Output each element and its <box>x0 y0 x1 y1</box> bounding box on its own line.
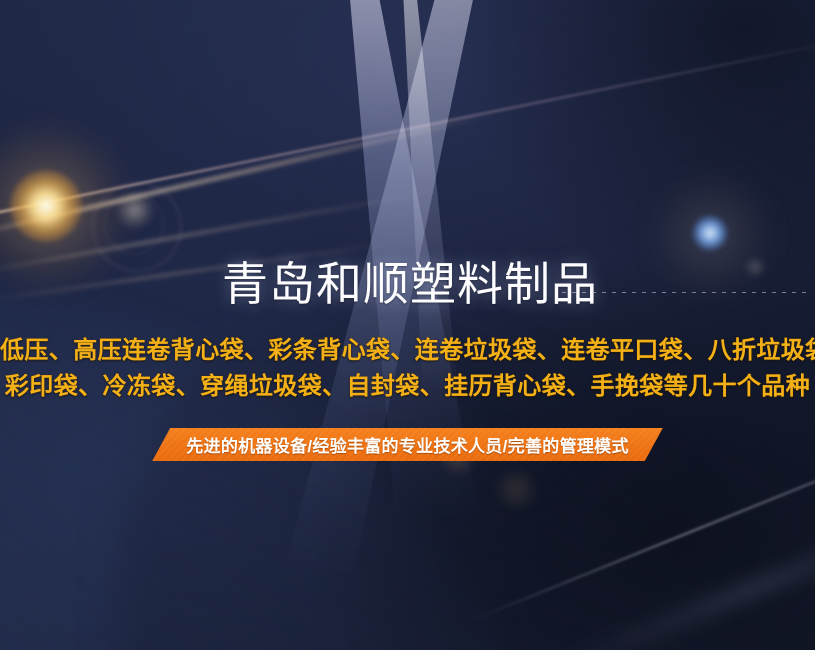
subtitle-block: 低压、高压连卷背心袋、彩条背心袋、连卷垃圾袋、连卷平口袋、八折垃圾袋、 彩印袋、… <box>0 333 815 405</box>
subtitle-line-1: 低压、高压连卷背心袋、彩条背心袋、连卷垃圾袋、连卷平口袋、八折垃圾袋、 <box>0 333 815 369</box>
promo-banner: 青岛和顺塑料制品 低压、高压连卷背心袋、彩条背心袋、连卷垃圾袋、连卷平口袋、八折… <box>0 0 815 650</box>
feature-ribbon-label: 先进的机器设备/经验丰富的专业技术人员/完善的管理模式 <box>186 432 629 457</box>
page-title: 青岛和顺塑料制品 <box>222 248 598 314</box>
title-dashed-rule <box>562 292 809 293</box>
ribbon-wrapper: 先进的机器设备/经验丰富的专业技术人员/完善的管理模式 <box>0 428 815 461</box>
title-row: 青岛和顺塑料制品 <box>0 248 815 314</box>
feature-ribbon: 先进的机器设备/经验丰富的专业技术人员/完善的管理模式 <box>152 428 663 461</box>
subtitle-line-2: 彩印袋、冷冻袋、穿绳垃圾袋、自封袋、挂历背心袋、手挽袋等几十个品种 <box>0 369 815 405</box>
